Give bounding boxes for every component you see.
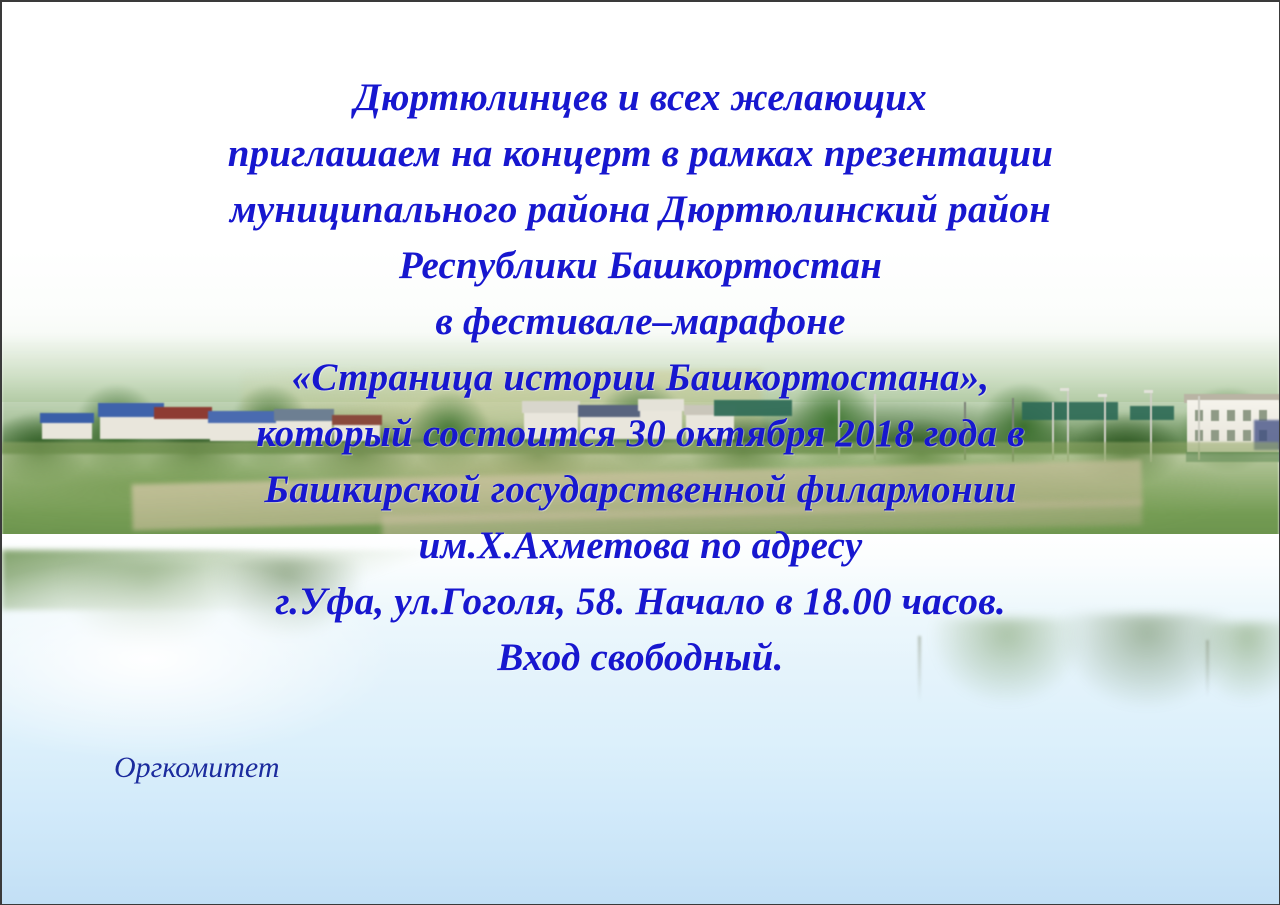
invitation-text-block: Дюртюлинцев и всех желающих приглашаем н… bbox=[2, 70, 1279, 686]
invitation-line-7: который состоится 30 октября 2018 года в bbox=[2, 406, 1279, 462]
invitation-line-3: муниципального района Дюртюлинский район bbox=[2, 182, 1279, 238]
invitation-line-2: приглашаем на концерт в рамках презентац… bbox=[2, 126, 1279, 182]
invitation-line-10: г.Уфа, ул.Гоголя, 58. Начало в 18.00 час… bbox=[2, 574, 1279, 630]
invitation-line-6: «Страница истории Башкортостана», bbox=[2, 350, 1279, 406]
invitation-line-5: в фестивале–марафоне bbox=[2, 294, 1279, 350]
signature-organizing-committee: Оргкомитет bbox=[114, 750, 280, 786]
invitation-line-11: Вход свободный. bbox=[2, 630, 1279, 686]
invitation-line-1: Дюртюлинцев и всех желающих bbox=[2, 70, 1279, 126]
invitation-line-9: им.Х.Ахметова по адресу bbox=[2, 518, 1279, 574]
invitation-line-4: Республики Башкортостан bbox=[2, 238, 1279, 294]
invitation-line-8: Башкирской государственной филармонии bbox=[2, 462, 1279, 518]
event-poster: Дюртюлинцев и всех желающих приглашаем н… bbox=[0, 0, 1280, 905]
